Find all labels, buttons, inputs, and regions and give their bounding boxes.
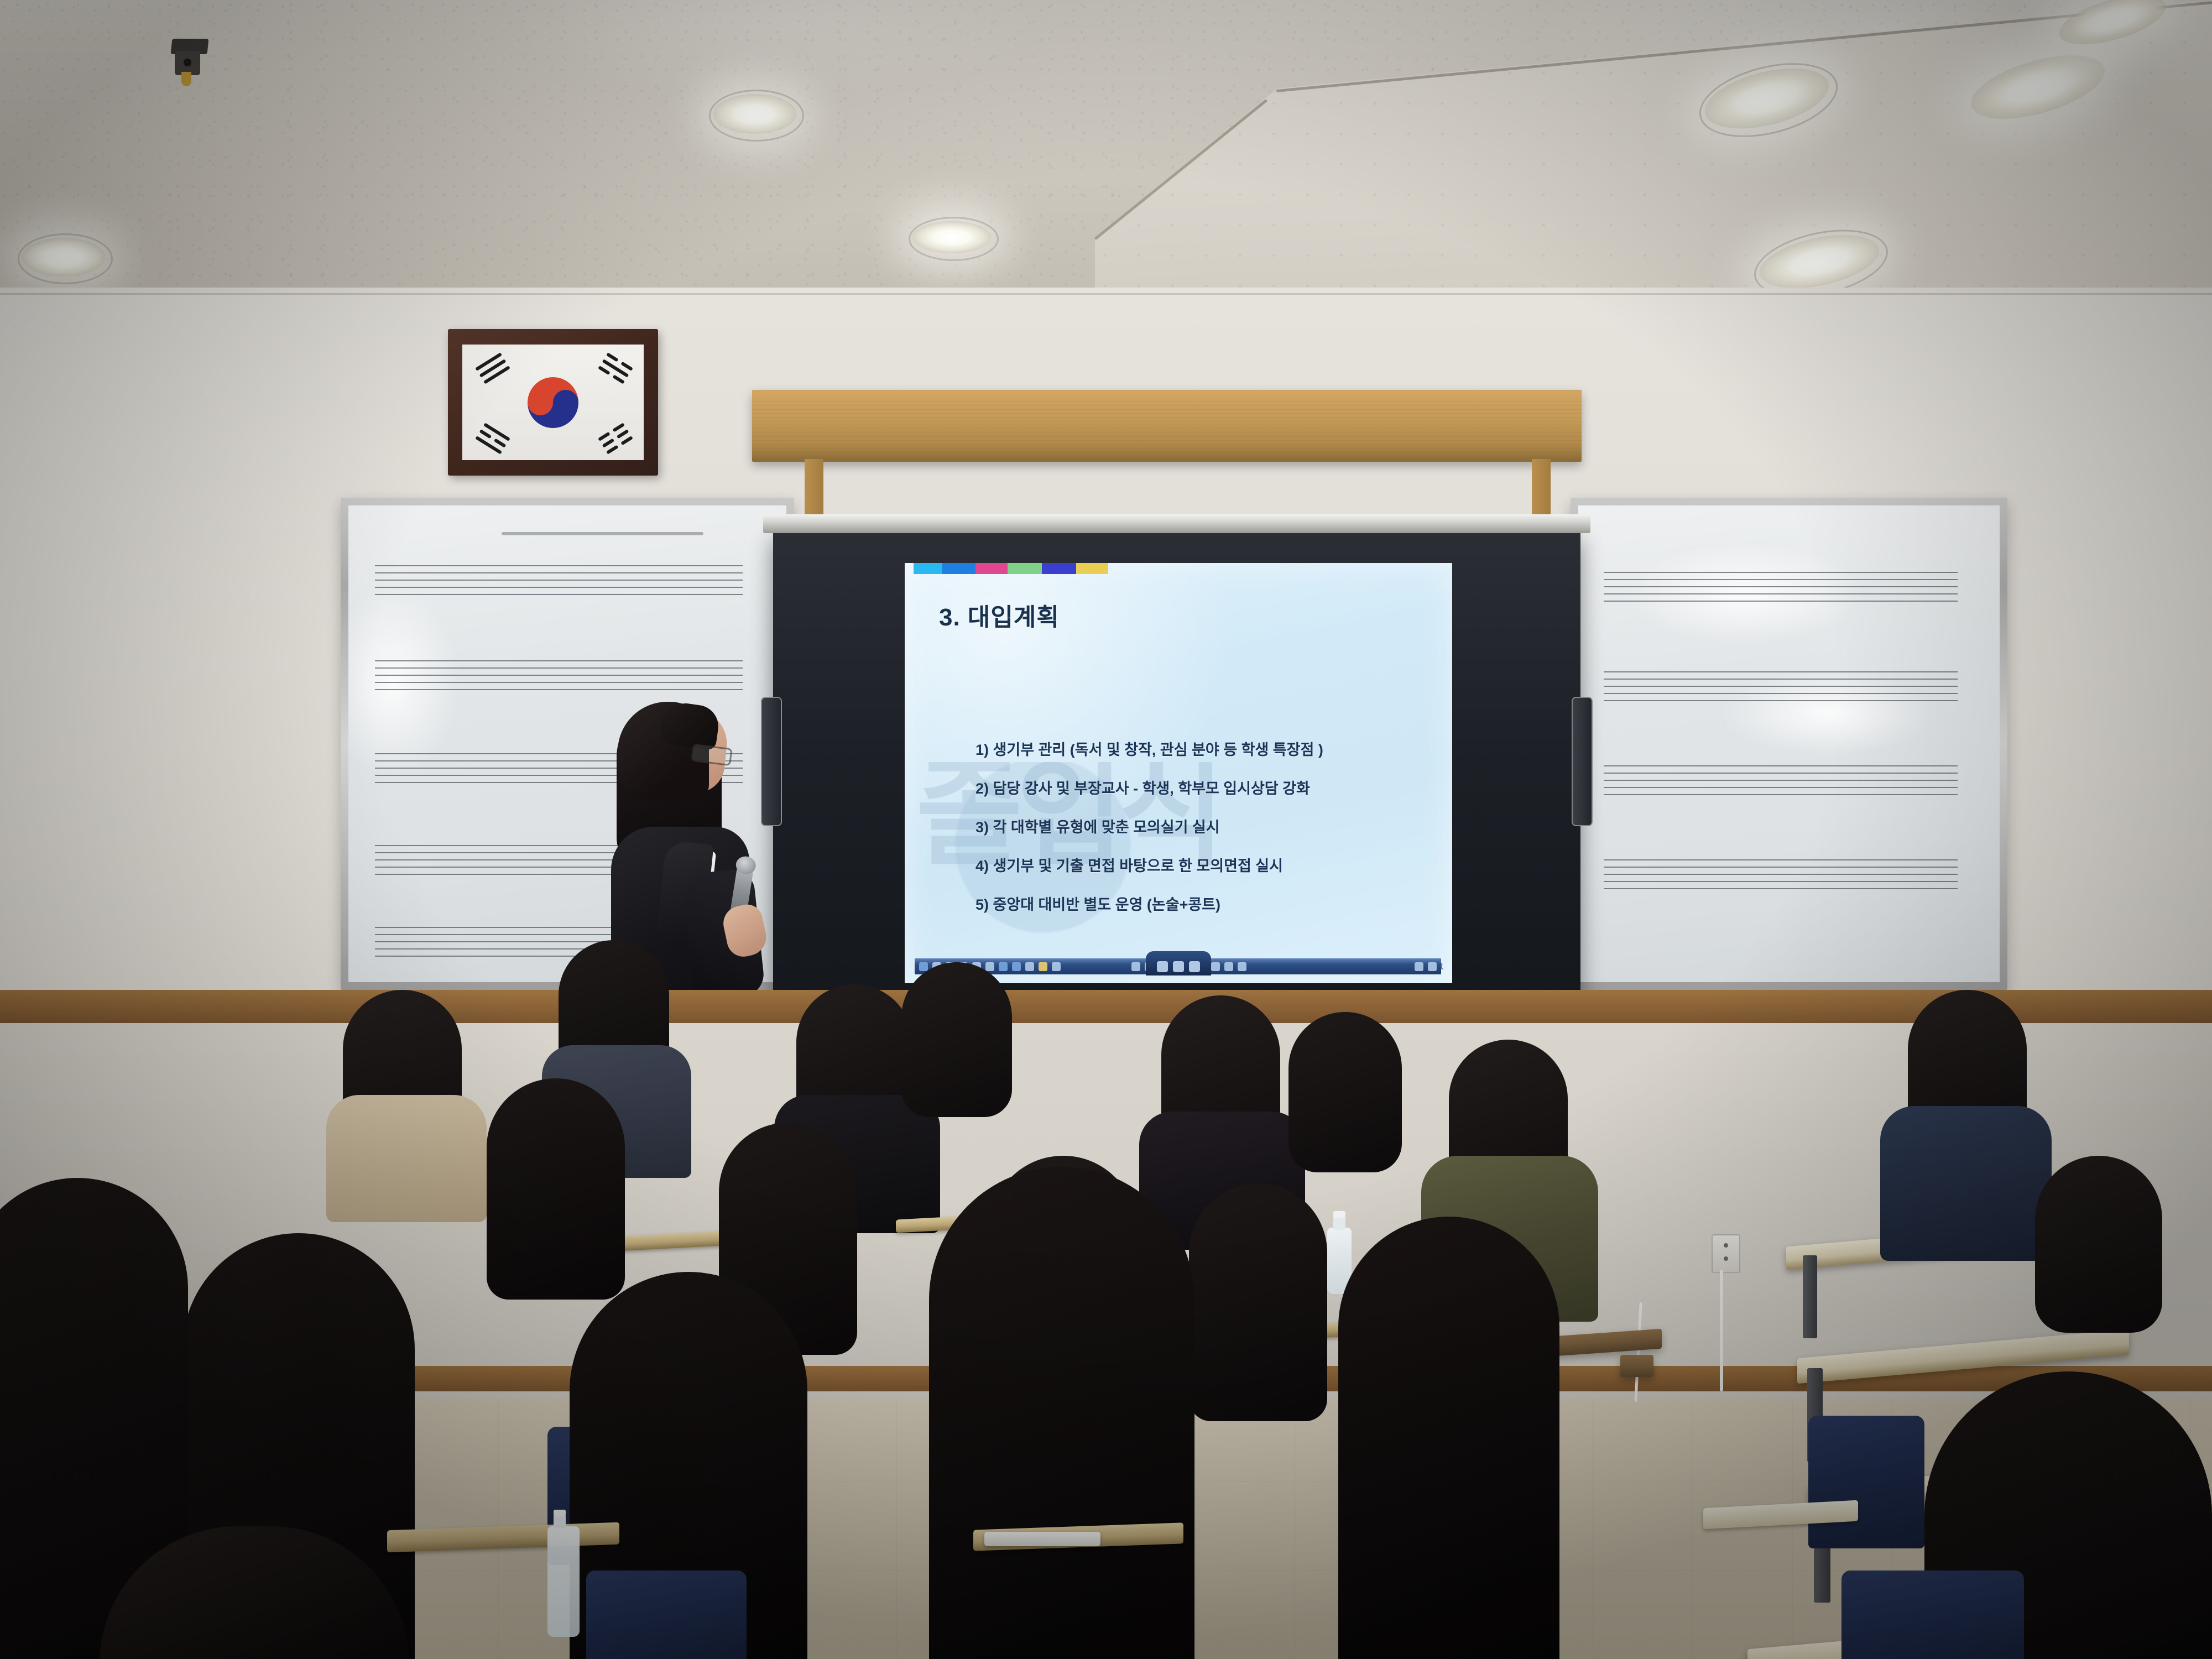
audience-head bbox=[929, 1167, 1194, 1659]
taskbar-icon[interactable] bbox=[1052, 962, 1061, 971]
slide-bullet-list: 1) 생기부 관리 (독서 및 창작, 관심 분야 등 학생 특장점 ) 2) … bbox=[953, 738, 1452, 931]
taskbar-icon[interactable] bbox=[1224, 962, 1233, 971]
trigram-ri bbox=[475, 422, 510, 454]
taskbar-icon[interactable] bbox=[1238, 962, 1246, 971]
audience-chair bbox=[1841, 1571, 2024, 1659]
taeguk-circle bbox=[528, 377, 578, 428]
audience-head bbox=[1338, 1217, 1559, 1659]
downlight-rim bbox=[18, 233, 113, 284]
green-tab bbox=[1008, 563, 1042, 574]
taskbar-icon[interactable] bbox=[999, 962, 1008, 971]
trigram-gon bbox=[598, 422, 633, 454]
taegukgi-flag-icon bbox=[462, 345, 644, 460]
trigram-geon bbox=[475, 352, 510, 384]
downlight-rim bbox=[909, 217, 999, 261]
slide-bullet: 2) 담당 강사 및 부장교사 - 학생, 학부모 입시상담 강화 bbox=[975, 776, 1452, 798]
taskbar-icon[interactable] bbox=[1025, 962, 1034, 971]
water-bottle[interactable] bbox=[547, 1526, 580, 1637]
audience-head bbox=[901, 962, 1012, 1117]
cyan-tab bbox=[914, 563, 942, 574]
slide-title: 3. 대입계획 bbox=[939, 597, 1060, 633]
power-cable bbox=[1720, 1270, 1723, 1391]
audience-shoulders bbox=[1880, 1106, 2052, 1261]
taskbar-tray-icon[interactable] bbox=[1415, 962, 1423, 971]
indigo-tab bbox=[1042, 563, 1076, 574]
bench-leg bbox=[1620, 1355, 1653, 1377]
tray-icon bbox=[1173, 961, 1184, 972]
taskbar-icon[interactable] bbox=[1039, 962, 1047, 971]
taskbar-tray-icon[interactable] bbox=[1428, 962, 1437, 971]
audience-chair bbox=[1808, 1416, 1924, 1548]
taskbar-icon[interactable] bbox=[1211, 962, 1220, 971]
taskbar-start-icon[interactable] bbox=[919, 962, 928, 971]
smartphone[interactable] bbox=[984, 1532, 1100, 1546]
slide-bullet: 1) 생기부 관리 (독서 및 창작, 관심 분야 등 학생 특장점 ) bbox=[975, 738, 1452, 759]
slide-bullet: 3) 각 대학별 유형에 맞춘 모의실기 실시 bbox=[975, 815, 1452, 837]
wall-seam bbox=[0, 293, 2212, 295]
slide-bullet: 5) 중앙대 대비반 별도 운영 (논술+콩트) bbox=[975, 893, 1452, 914]
taskbar-icon[interactable] bbox=[1012, 962, 1021, 971]
korean-flag-frame bbox=[448, 329, 658, 476]
audience-chair bbox=[586, 1571, 747, 1659]
audience-head bbox=[1288, 1012, 1402, 1172]
fire-sprinkler-icon bbox=[166, 39, 213, 85]
audience-shoulders bbox=[326, 1095, 487, 1222]
downlight-rim bbox=[709, 90, 804, 142]
pink-tab bbox=[975, 563, 1008, 574]
classroom-photo-scene: 졸업식 3. 대입계획 1) 생기부 관리 (독서 및 창작, 관심 분야 등 … bbox=[0, 0, 2212, 1659]
tray-icon bbox=[1189, 961, 1200, 972]
whiteboard-right bbox=[1571, 498, 2007, 990]
audience-head bbox=[487, 1078, 625, 1300]
screen-side-handle-right[interactable] bbox=[1572, 697, 1593, 826]
audience-head bbox=[1189, 1183, 1327, 1421]
tray-icon bbox=[1157, 961, 1168, 972]
taskbar-center-tray[interactable] bbox=[1146, 951, 1211, 975]
presentation-slide: 졸업식 3. 대입계획 1) 생기부 관리 (독서 및 창작, 관심 분야 등 … bbox=[905, 563, 1452, 983]
trigram-gam bbox=[598, 352, 633, 384]
yellow-tab bbox=[1076, 563, 1108, 574]
screen-top-rail bbox=[763, 514, 1590, 533]
taskbar-icon[interactable] bbox=[985, 962, 994, 971]
projection-screen: 졸업식 3. 대입계획 1) 생기부 관리 (독서 및 창작, 관심 분야 등 … bbox=[773, 531, 1580, 1006]
taskbar-icon[interactable] bbox=[1131, 962, 1140, 971]
audience-head bbox=[2035, 1156, 2162, 1333]
wall-power-outlet[interactable] bbox=[1712, 1234, 1740, 1273]
blue-tab bbox=[942, 563, 975, 574]
slide-color-tab-bar bbox=[914, 563, 1108, 574]
wainscot-band bbox=[0, 990, 2212, 1023]
slide-bullet: 4) 생기부 및 기출 면접 바탕으로 한 모의면접 실시 bbox=[975, 854, 1452, 875]
wood-valance-board bbox=[752, 390, 1582, 462]
